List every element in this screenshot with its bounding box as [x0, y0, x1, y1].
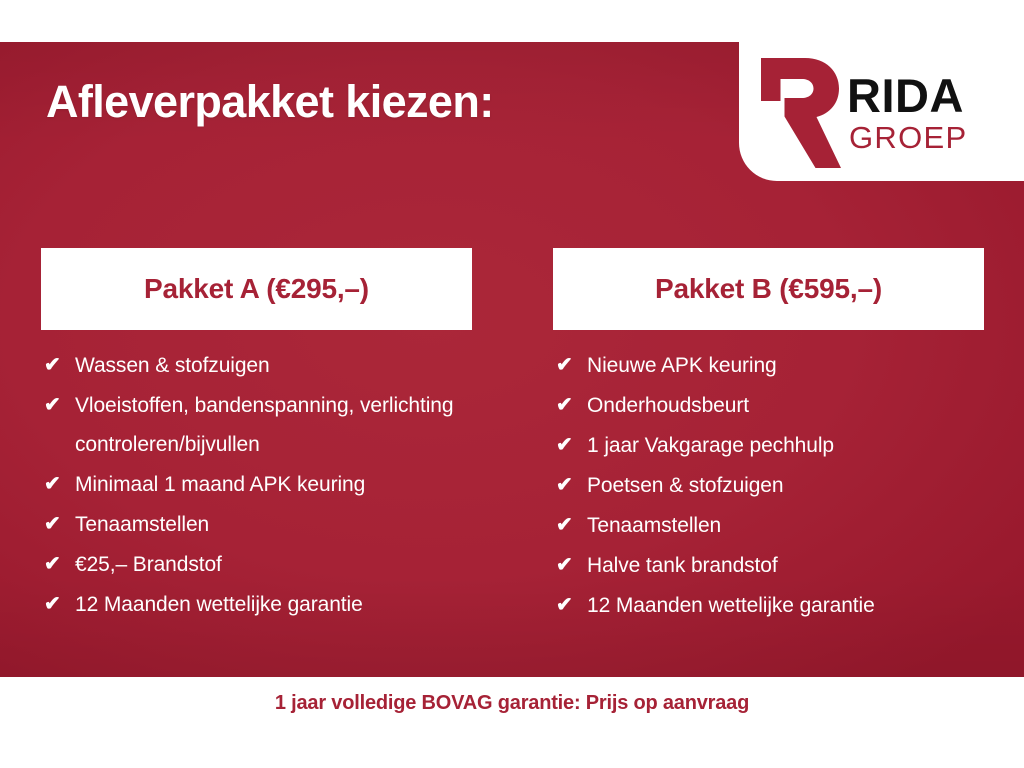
package-b-feature-list: ✔ Nieuwe APK keuring ✔ Onderhoudsbeurt ✔…: [553, 346, 984, 625]
feature-label: €25,– Brandstof: [75, 545, 472, 584]
feature-label: Tenaamstellen: [75, 505, 472, 544]
list-item: ✔ 12 Maanden wettelijke garantie: [41, 585, 472, 624]
footer-bar: 1 jaar volledige BOVAG garantie: Prijs o…: [0, 677, 1024, 768]
feature-label: Minimaal 1 maand APK keuring: [75, 465, 472, 504]
check-icon: ✔: [556, 506, 587, 545]
page-title: Afleverpakket kiezen:: [46, 78, 494, 125]
feature-label: Poetsen & stofzuigen: [587, 466, 984, 505]
feature-label: 1 jaar Vakgarage pechhulp: [587, 426, 984, 465]
feature-label: Vloeistoffen, bandenspanning, verlichtin…: [75, 386, 472, 464]
package-a-feature-list: ✔ Wassen & stofzuigen ✔ Vloeistoffen, ba…: [41, 346, 472, 624]
check-icon: ✔: [556, 386, 587, 425]
slide-root: Afleverpakket kiezen: RIDA GROEP Pakket …: [0, 0, 1024, 768]
feature-label: 12 Maanden wettelijke garantie: [75, 585, 472, 624]
check-icon: ✔: [556, 466, 587, 505]
check-icon: ✔: [556, 586, 587, 625]
list-item: ✔ Nieuwe APK keuring: [553, 346, 984, 385]
check-icon: ✔: [556, 546, 587, 585]
check-icon: ✔: [44, 505, 75, 544]
list-item: ✔ 12 Maanden wettelijke garantie: [553, 586, 984, 625]
list-item: ✔ €25,– Brandstof: [41, 545, 472, 584]
package-column-a: Pakket A (€295,–) ✔ Wassen & stofzuigen …: [41, 248, 472, 626]
check-icon: ✔: [44, 585, 75, 624]
list-item: ✔ 1 jaar Vakgarage pechhulp: [553, 426, 984, 465]
list-item: ✔ Vloeistoffen, bandenspanning, verlicht…: [41, 386, 472, 464]
feature-label: Wassen & stofzuigen: [75, 346, 472, 385]
brand-logo-plate: RIDA GROEP: [739, 42, 1024, 181]
package-column-b: Pakket B (€595,–) ✔ Nieuwe APK keuring ✔…: [553, 248, 984, 626]
list-item: ✔ Wassen & stofzuigen: [41, 346, 472, 385]
brand-logo-wordmark: RIDA GROEP: [847, 74, 967, 153]
check-icon: ✔: [44, 346, 75, 385]
rida-r-mark-icon: [755, 54, 841, 172]
brand-name-primary: RIDA: [847, 74, 964, 119]
feature-label: 12 Maanden wettelijke garantie: [587, 586, 984, 625]
feature-label: Onderhoudsbeurt: [587, 386, 984, 425]
list-item: ✔ Halve tank brandstof: [553, 546, 984, 585]
list-item: ✔ Tenaamstellen: [41, 505, 472, 544]
package-b-header[interactable]: Pakket B (€595,–): [553, 248, 984, 330]
check-icon: ✔: [44, 465, 75, 504]
brand-name-secondary: GROEP: [849, 122, 967, 153]
check-icon: ✔: [44, 386, 75, 425]
feature-label: Nieuwe APK keuring: [587, 346, 984, 385]
feature-label: Halve tank brandstof: [587, 546, 984, 585]
list-item: ✔ Tenaamstellen: [553, 506, 984, 545]
check-icon: ✔: [556, 426, 587, 465]
package-a-header[interactable]: Pakket A (€295,–): [41, 248, 472, 330]
check-icon: ✔: [44, 545, 75, 584]
list-item: ✔ Onderhoudsbeurt: [553, 386, 984, 425]
packages-container: Pakket A (€295,–) ✔ Wassen & stofzuigen …: [0, 248, 1024, 626]
check-icon: ✔: [556, 346, 587, 385]
list-item: ✔ Minimaal 1 maand APK keuring: [41, 465, 472, 504]
list-item: ✔ Poetsen & stofzuigen: [553, 466, 984, 505]
footer-note: 1 jaar volledige BOVAG garantie: Prijs o…: [275, 692, 749, 715]
feature-label: Tenaamstellen: [587, 506, 984, 545]
